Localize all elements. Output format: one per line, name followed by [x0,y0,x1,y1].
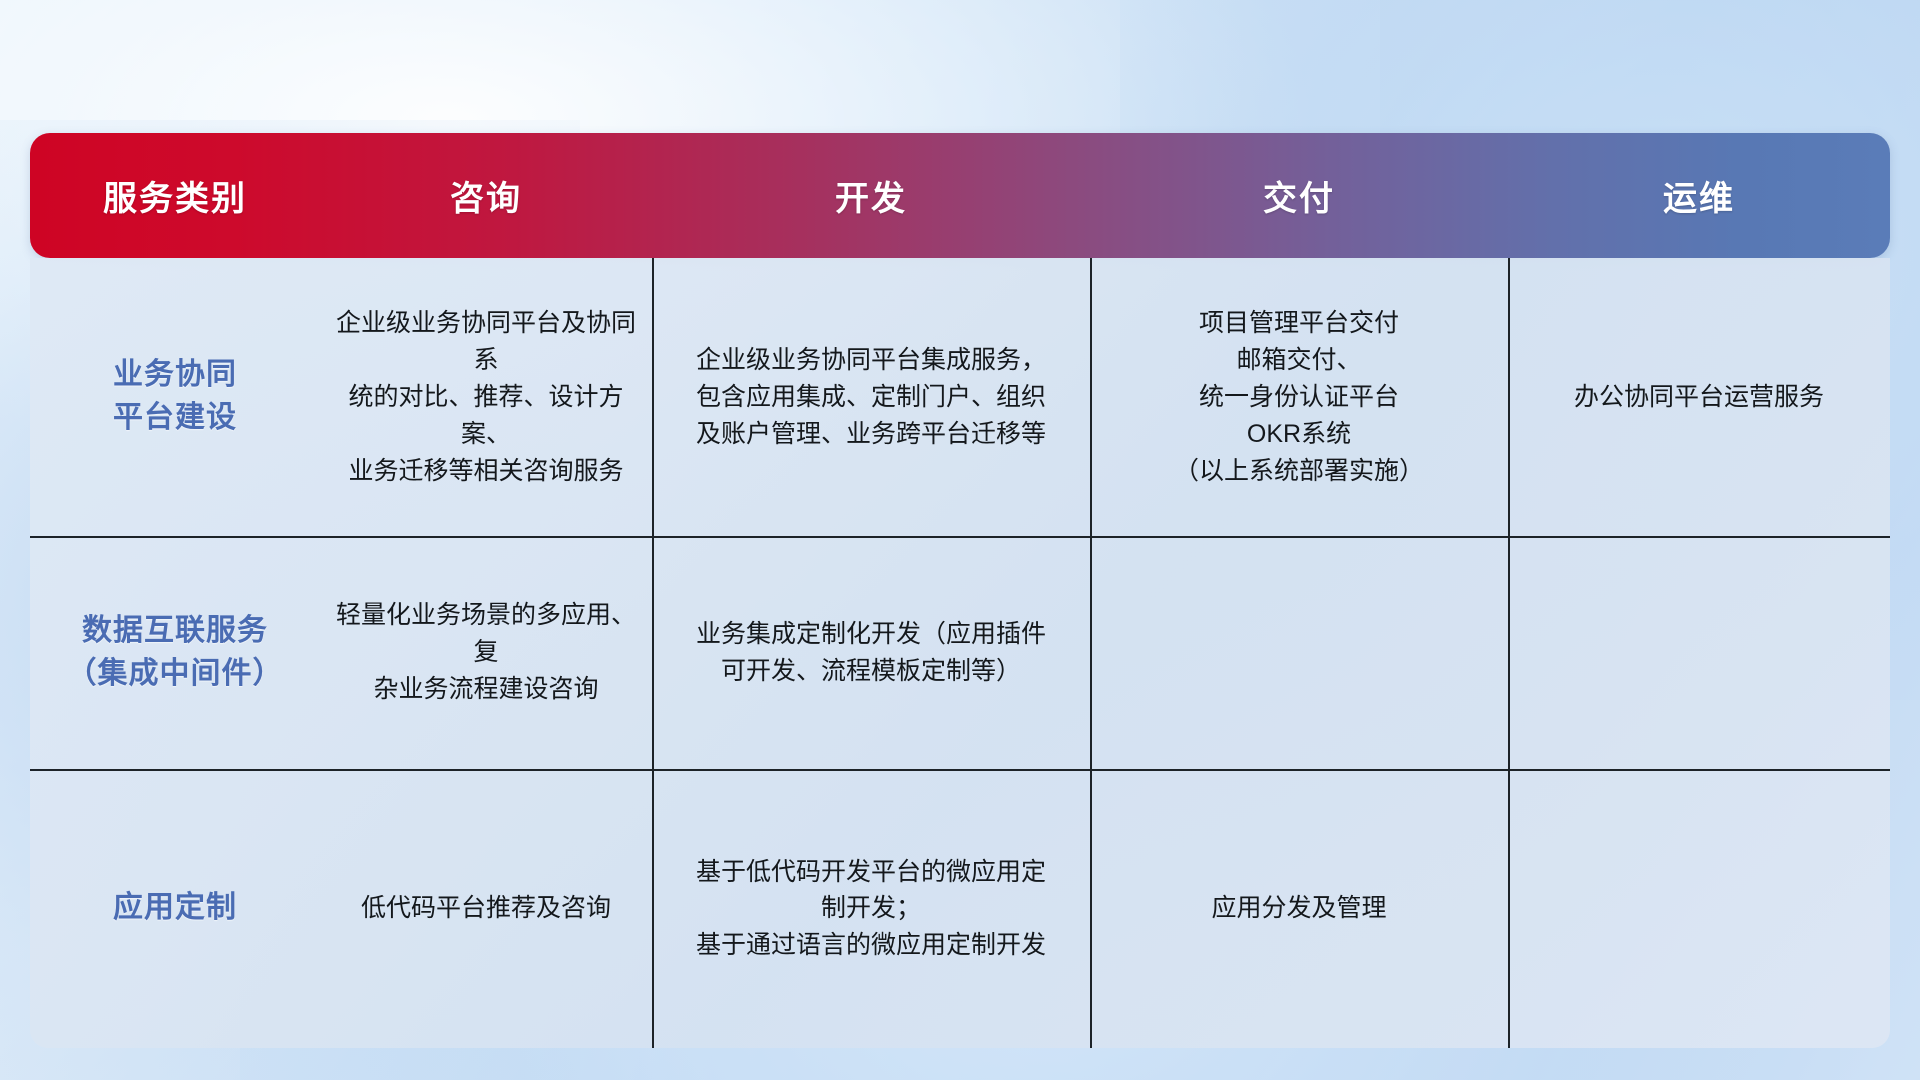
header-label-delivery: 交付 [1263,171,1335,220]
header-cell-operations: 运维 [1508,133,1890,258]
cell-delivery: 应用分发及管理 [1211,890,1386,927]
row-1-cell-operations: 办公协同平台运营服务 [1508,258,1890,536]
cell-consulting: 企业级业务协同平台及协同系 统的对比、推荐、设计方案、 业务迁移等相关咨询服务 [334,305,638,490]
row-2-cell-development: 业务集成定制化开发（应用插件 可开发、流程模板定制等） [652,536,1090,769]
table-body: 业务协同 平台建设 企业级业务协同平台及协同系 统的对比、推荐、设计方案、 业务… [30,258,1890,1048]
row-1-cell-consulting: 企业级业务协同平台及协同系 统的对比、推荐、设计方案、 业务迁移等相关咨询服务 [320,258,652,536]
row-1-cell-development: 企业级业务协同平台集成服务， 包含应用集成、定制门户、组织 及账户管理、业务跨平… [652,258,1090,536]
category-label: 业务协同 平台建设 [113,354,237,439]
row-3-cell-delivery: 应用分发及管理 [1090,769,1508,1048]
row-3-cell-consulting: 低代码平台推荐及咨询 [320,769,652,1048]
row-2-cell-operations [1508,536,1890,769]
cell-development: 基于低代码开发平台的微应用定 制开发； 基于通过语言的微应用定制开发 [696,854,1046,964]
cell-operations: 办公协同平台运营服务 [1574,379,1824,416]
row-3-cell-category: 应用定制 [30,769,320,1048]
cell-delivery: 项目管理平台交付 邮箱交付、 统一身份认证平台 OKR系统 （以上系统部署实施） [1174,305,1424,490]
header-label-category: 服务类别 [103,171,247,220]
header-label-development: 开发 [835,171,907,220]
cell-consulting: 低代码平台推荐及咨询 [361,890,611,927]
service-matrix-table: 服务类别 咨询 开发 交付 运维 业务协同 平台建设 企业级业务协同平台及协同系… [30,133,1890,1048]
row-2-cell-category: 数据互联服务 （集成中间件） [30,536,320,769]
table-row: 业务协同 平台建设 企业级业务协同平台及协同系 统的对比、推荐、设计方案、 业务… [30,258,1890,536]
table-row: 数据互联服务 （集成中间件） 轻量化业务场景的多应用、复 杂业务流程建设咨询 业… [30,536,1890,769]
row-3-cell-development: 基于低代码开发平台的微应用定 制开发； 基于通过语言的微应用定制开发 [652,769,1090,1048]
header-cell-development: 开发 [652,133,1090,258]
header-label-operations: 运维 [1663,171,1735,220]
header-label-consulting: 咨询 [450,171,522,220]
category-label: 数据互联服务 （集成中间件） [67,610,284,695]
header-cell-consulting: 咨询 [320,133,652,258]
category-label: 应用定制 [113,887,237,930]
row-1-cell-category: 业务协同 平台建设 [30,258,320,536]
table-row: 应用定制 低代码平台推荐及咨询 基于低代码开发平台的微应用定 制开发； 基于通过… [30,769,1890,1048]
table-header-row: 服务类别 咨询 开发 交付 运维 [30,133,1890,258]
cell-development: 企业级业务协同平台集成服务， 包含应用集成、定制门户、组织 及账户管理、业务跨平… [696,342,1046,453]
cell-consulting: 轻量化业务场景的多应用、复 杂业务流程建设咨询 [334,597,638,708]
row-2-cell-delivery [1090,536,1508,769]
header-cell-delivery: 交付 [1090,133,1508,258]
row-3-cell-operations [1508,769,1890,1048]
header-cell-category: 服务类别 [30,133,320,258]
row-1-cell-delivery: 项目管理平台交付 邮箱交付、 统一身份认证平台 OKR系统 （以上系统部署实施） [1090,258,1508,536]
row-2-cell-consulting: 轻量化业务场景的多应用、复 杂业务流程建设咨询 [320,536,652,769]
cell-development: 业务集成定制化开发（应用插件 可开发、流程模板定制等） [696,616,1046,690]
